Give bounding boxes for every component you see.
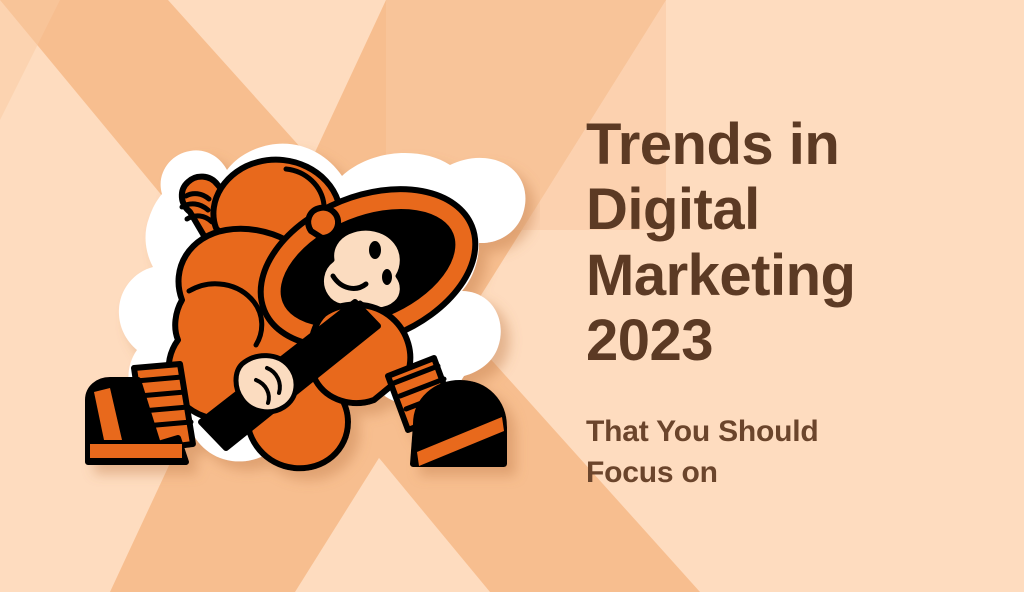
sticker-body — [88, 144, 525, 469]
character-front-hand — [236, 356, 296, 412]
page-title: Trends in Digital Marketing 2023 — [586, 112, 986, 373]
page-subtitle: That You Should Focus on — [586, 373, 986, 493]
poster-canvas: Trends in Digital Marketing 2023 That Yo… — [0, 0, 1024, 592]
character-left-leg — [88, 364, 193, 462]
left-boot-sole — [90, 444, 182, 458]
character-eye — [369, 241, 381, 259]
character-nose — [382, 269, 392, 285]
headline-block: Trends in Digital Marketing 2023 That Yo… — [586, 112, 986, 493]
running-character-sticker — [30, 100, 540, 500]
hat-top-knot — [308, 208, 338, 238]
